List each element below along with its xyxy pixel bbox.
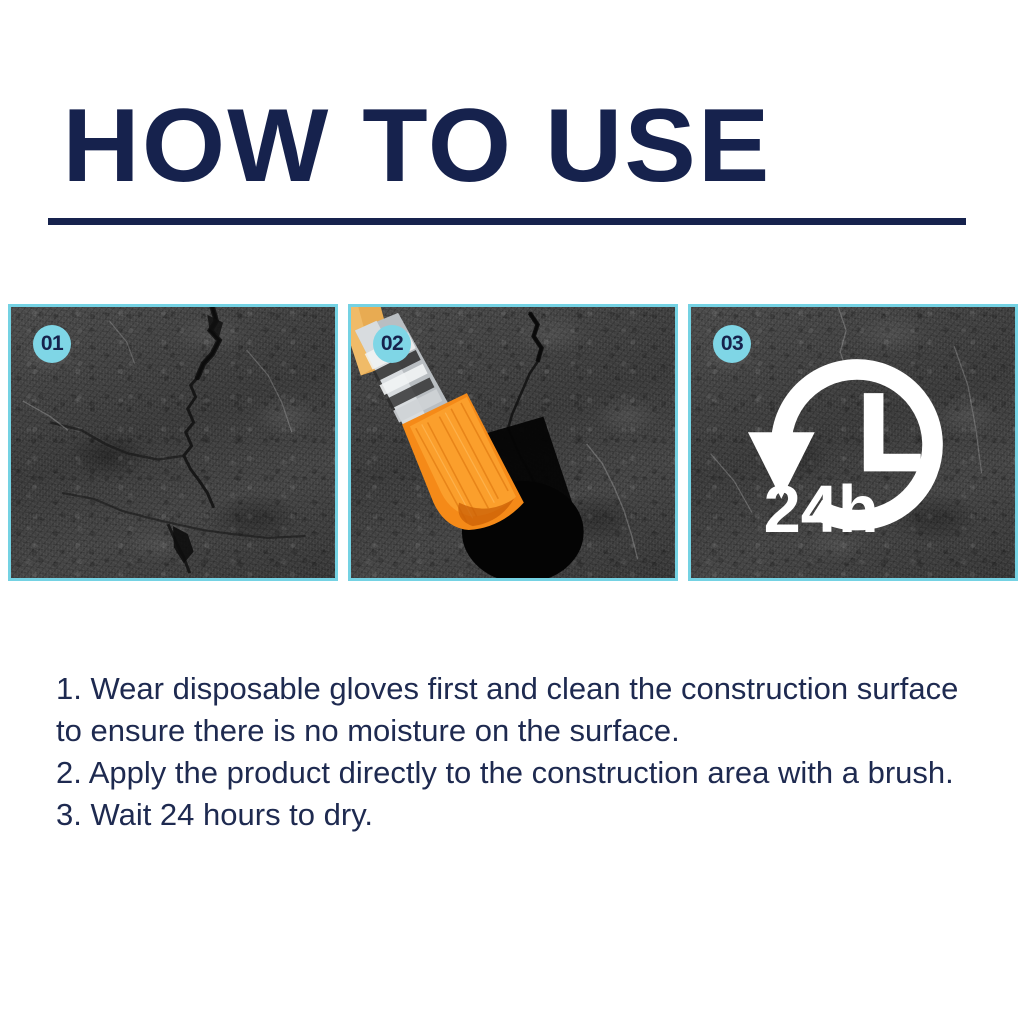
instruction-step-3: 3. Wait 24 hours to dry. [56, 794, 966, 836]
steps-image-row: 01 [8, 304, 1018, 581]
step-panel-1: 01 [8, 304, 338, 581]
instruction-step-2: 2. Apply the product directly to the con… [56, 752, 966, 794]
step-panel-3: 24h 03 [688, 304, 1018, 581]
step-badge-1: 01 [33, 325, 71, 363]
instructions-list: 1. Wear disposable gloves first and clea… [56, 668, 966, 836]
step-badge-3: 03 [713, 325, 751, 363]
step-badge-2: 02 [373, 325, 411, 363]
instruction-step-1: 1. Wear disposable gloves first and clea… [56, 668, 966, 752]
step-panel-2: 02 [348, 304, 678, 581]
header-block: HOW TO USE [48, 96, 968, 225]
title-underline-rule [48, 218, 966, 225]
24h-label: 24h [764, 473, 879, 547]
page-title: HOW TO USE [48, 96, 996, 196]
